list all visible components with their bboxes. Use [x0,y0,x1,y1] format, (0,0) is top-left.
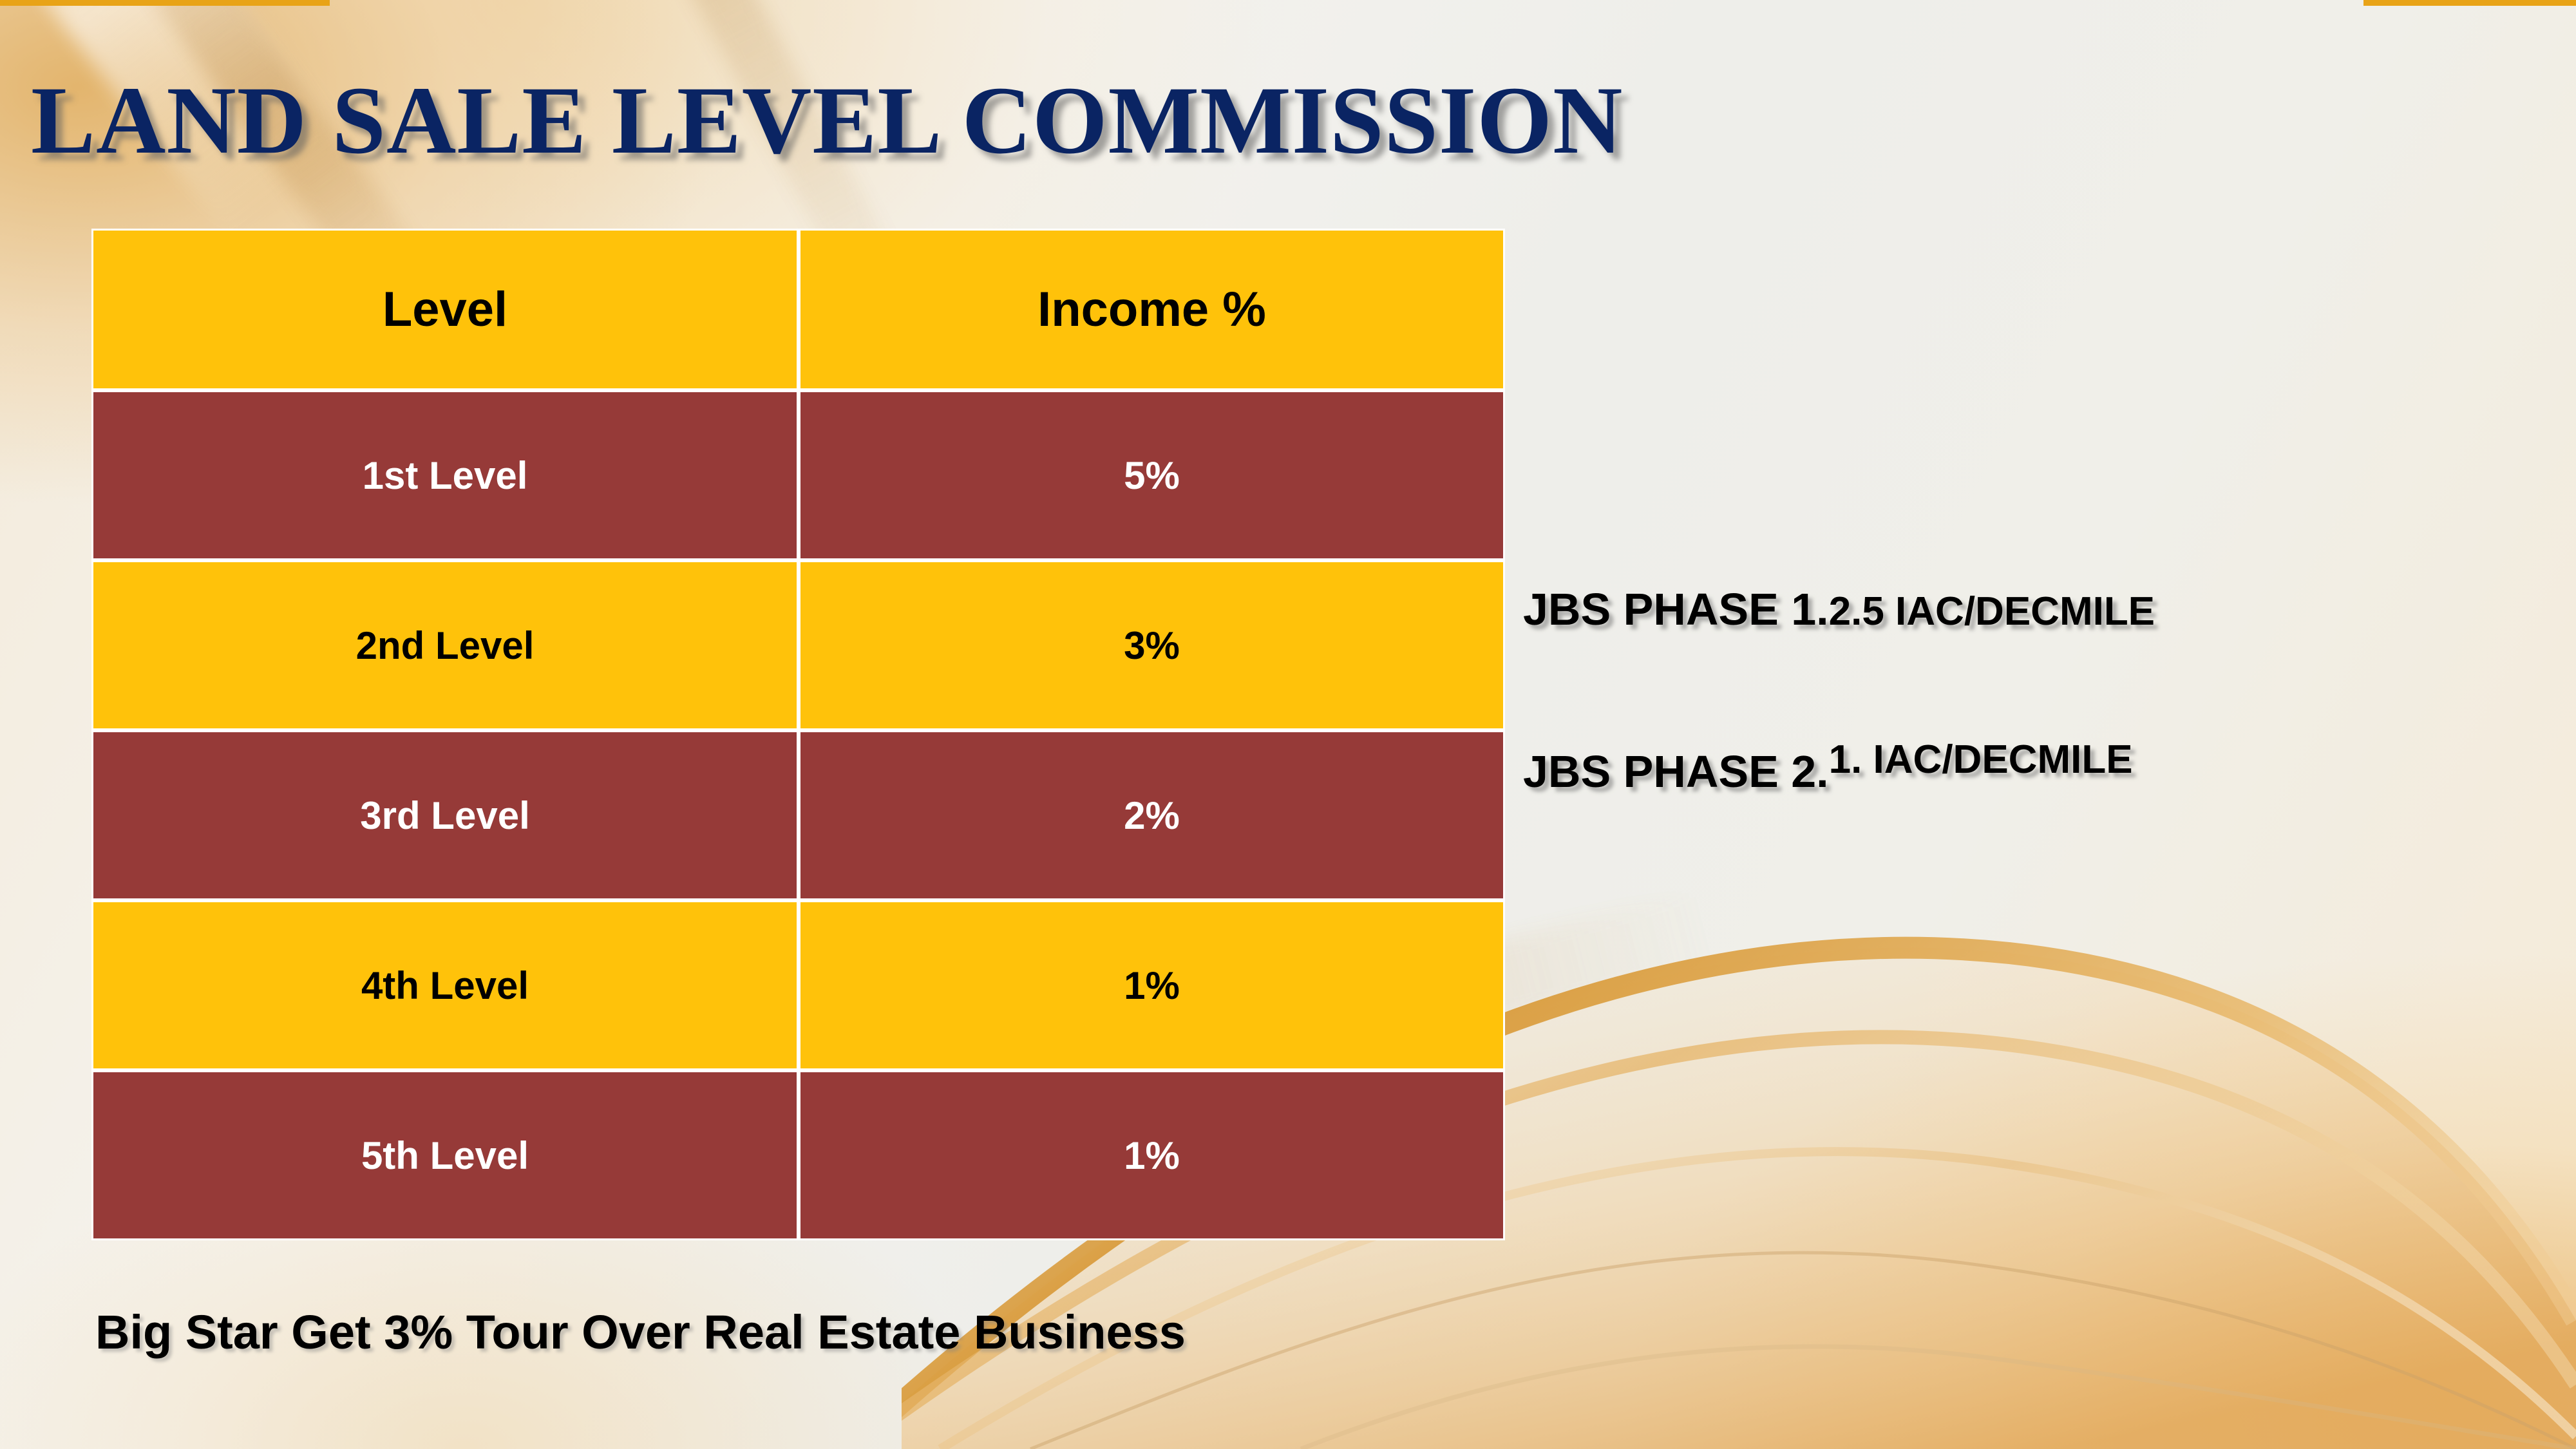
table-row: 3rd Level 2% [91,730,1505,900]
slide-canvas: LAND SALE LEVEL COMMISSION Level Income … [0,0,2576,1449]
phase-1-note: JBS PHASE 1.2.5 IAC/DECMILE [1523,583,2155,635]
table-header-row: Level Income % [91,229,1505,390]
phase-1-value: 2.5 IAC/DECMILE [1829,589,2155,634]
top-gold-rule-right [2363,0,2576,6]
table-row: 1st Level 5% [91,390,1505,560]
cell-level: 2nd Level [91,560,799,730]
cell-income: 3% [799,560,1505,730]
commission-table: Level Income % 1st Level 5% 2nd Level 3%… [91,229,1505,1240]
cell-level: 1st Level [91,390,799,560]
table-row: 2nd Level 3% [91,560,1505,730]
cell-income: 5% [799,390,1505,560]
cell-level: 3rd Level [91,730,799,900]
phase-1-label: JBS PHASE 1. [1523,584,1829,634]
table-row: 4th Level 1% [91,900,1505,1070]
phase-2-value: 1. IAC/DECMILE [1829,737,2133,782]
cell-level: 5th Level [91,1070,799,1240]
top-gold-rule-left [0,0,330,6]
cell-income: 1% [799,900,1505,1070]
phase-2-label: JBS PHASE 2. [1523,746,1829,797]
column-header-level: Level [91,229,799,390]
footer-note: Big Star Get 3% Tour Over Real Estate Bu… [95,1305,1186,1359]
column-header-income: Income % [799,229,1505,390]
cell-income: 2% [799,730,1505,900]
cell-level: 4th Level [91,900,799,1070]
cell-income: 1% [799,1070,1505,1240]
page-title: LAND SALE LEVEL COMMISSION [31,72,1623,169]
table-row: 5th Level 1% [91,1070,1505,1240]
phase-2-note: JBS PHASE 2.1. IAC/DECMILE [1523,746,2133,797]
